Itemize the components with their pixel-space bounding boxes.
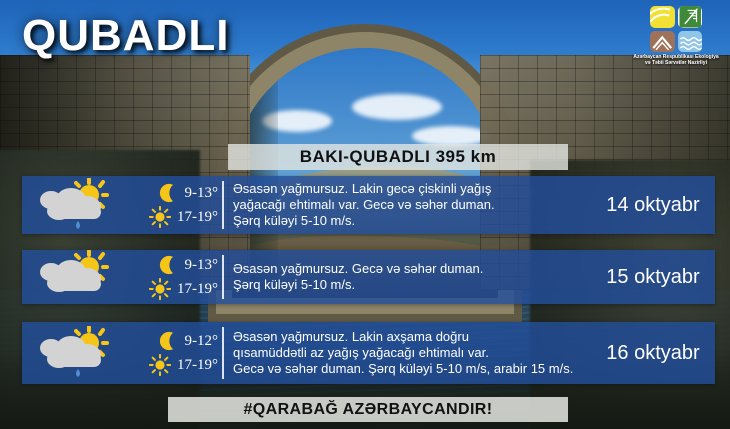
forecast-date: 15 oktyabr [591,266,715,289]
sun-icon [149,354,171,376]
description-line: Gecə və səhər duman. Şərq küləyi 5-10 m/… [233,361,583,377]
description-line: yağacağı ehtimalı var. Gecə və səhər dum… [233,197,583,213]
ministry-logo: Azərbaycan Respublikası Ekologiya və Təb… [630,6,722,66]
cloud-sun-rain-icon [29,326,125,380]
day-temperature: 17-19° [132,354,218,376]
description-line: Əsasən yağmursuz. Gecə və səhər duman. [233,261,583,277]
slogan-banner-text: #QARABAĞ AZƏRBAYCANDIR! [244,401,493,419]
forecast-description: Əsasən yağmursuz. Lakin axşama doğru qıs… [224,329,591,377]
night-temperature-value: 9-13° [185,185,219,202]
temperature-cell: 9-12° 17-19° [132,330,222,376]
weather-icon-cell [22,250,132,304]
forecast-description: Əsasən yağmursuz. Lakin gecə çiskinli ya… [224,181,591,229]
logo-caption: Azərbaycan Respublikası Ekologiya və Təb… [630,54,722,66]
leaf-tile-icon [678,6,703,28]
logo-tiles [650,6,702,52]
weather-infographic: QUBADLI [0,0,730,429]
weather-icon-cell [22,326,132,380]
description-line: Şərq küləyi 5-10 m/s. [233,213,583,229]
forecast-date: 14 oktyabr [591,194,715,217]
slogan-banner: #QARABAĞ AZƏRBAYCANDIR! [168,397,568,422]
forecast-description: Əsasən yağmursuz. Gecə və səhər duman. Ş… [224,261,591,293]
day-temperature-value: 17-19° [177,209,218,226]
moon-icon [157,330,179,352]
moon-icon [157,254,179,276]
night-temperature-value: 9-12° [185,333,219,350]
day-temperature-value: 17-19° [177,281,218,298]
forecast-row: 9-13° 17-19° Əsasən yağmursuz. Gecə və s… [22,250,715,304]
description-line: Əsasən yağmursuz. Lakin gecə çiskinli ya… [233,181,583,197]
water-tile-icon [678,31,703,53]
distance-banner-text: BAKI-QUBADLI 395 km [300,147,497,167]
sun-icon [149,206,171,228]
weather-icon-cell [22,178,132,232]
night-temperature-value: 9-13° [185,257,219,274]
description-line: Əsasən yağmursuz. Lakin axşama doğru [233,329,583,345]
forecast-row: 9-13° 17-19° Əsasən yağmursuz. Lakin gec… [22,176,715,234]
day-temperature-value: 17-19° [177,357,218,374]
cloud-sun-icon [29,250,125,304]
temperature-cell: 9-13° 17-19° [132,182,222,228]
page-title: QUBADLI [22,14,229,58]
cloud-shape [352,94,442,120]
forecast-row: 9-12° 17-19° Əsasən yağmursuz. Lakin axş… [22,322,715,384]
moon-icon [157,182,179,204]
sun-icon [149,278,171,300]
day-temperature: 17-19° [132,278,218,300]
temperature-cell: 9-13° 17-19° [132,254,222,300]
night-temperature: 9-13° [132,254,218,276]
distance-banner: BAKI-QUBADLI 395 km [228,144,568,170]
description-line: Şərq küləyi 5-10 m/s. [233,277,583,293]
night-temperature: 9-13° [132,182,218,204]
night-temperature: 9-12° [132,330,218,352]
cloud-sun-rain-icon [29,178,125,232]
day-temperature: 17-19° [132,206,218,228]
sun-tile-icon [650,6,675,28]
description-line: qısamüddətli az yağış yağacağı ehtimalı … [233,345,583,361]
mountain-tile-icon [650,31,675,53]
cloud-shape [412,126,490,146]
forecast-date: 16 oktyabr [591,342,715,365]
